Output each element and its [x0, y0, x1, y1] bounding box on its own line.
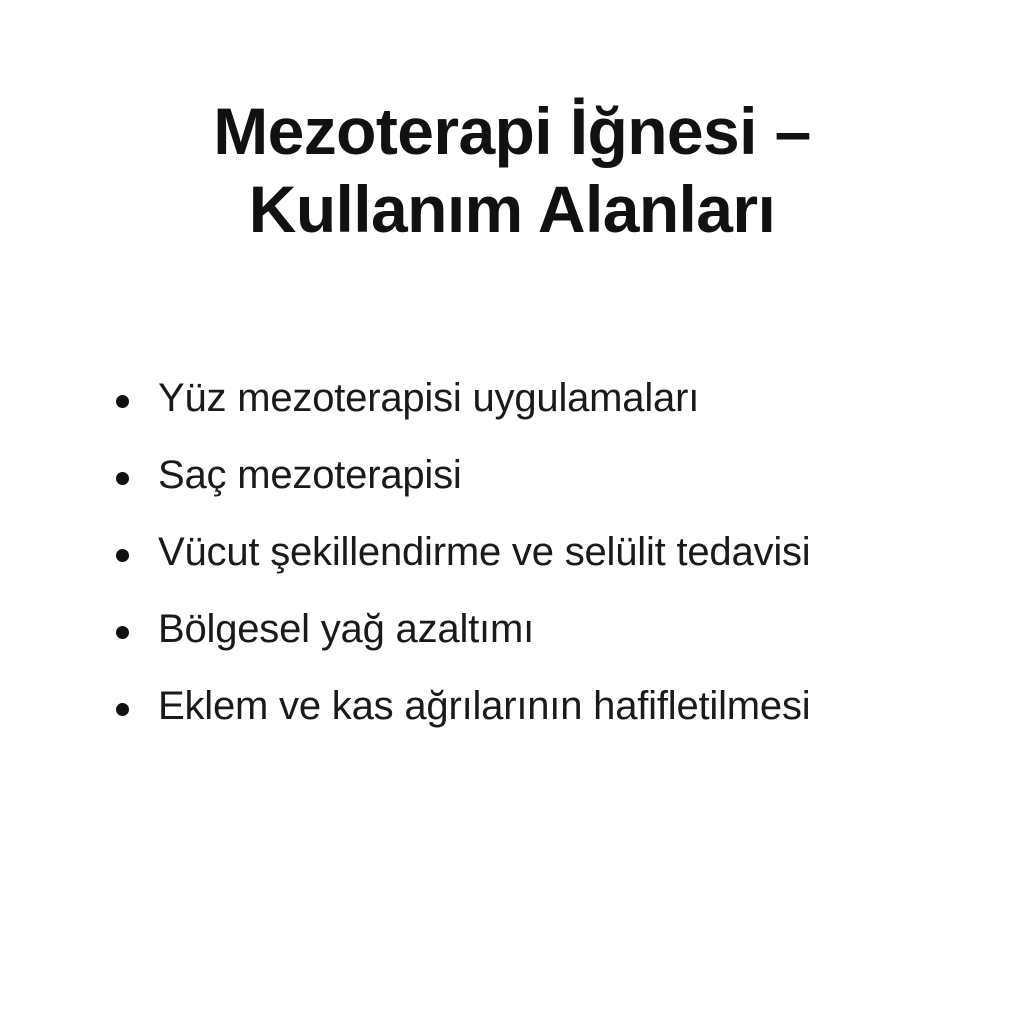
list-item: Saç mezoterapisi: [112, 451, 992, 528]
list-item: Yüz mezoterapisi uygulamaları: [112, 374, 992, 451]
list-item-label: Bölgesel yağ azaltımı: [158, 605, 534, 653]
list-item: Eklem ve kas ağrılarının hafifletilmesi: [112, 682, 992, 759]
page-title-line-2: Kullanım Alanları: [0, 170, 1024, 248]
page-title-line-1: Mezoterapi İğnesi –: [0, 92, 1024, 170]
list-item-label: Yüz mezoterapisi uygulamaları: [158, 374, 699, 422]
slide-canvas: Mezoterapi İğnesi – Kullanım Alanları Yü…: [0, 0, 1024, 1024]
bullet-dot-icon: [116, 703, 129, 716]
usage-areas-list: Yüz mezoterapisi uygulamaları Saç mezote…: [112, 374, 992, 759]
list-item: Vücut şekillendirme ve selülit tedavisi: [112, 528, 992, 605]
bullet-dot-icon: [116, 472, 129, 485]
bullet-dot-icon: [116, 626, 129, 639]
list-item-label: Saç mezoterapisi: [158, 451, 462, 499]
list-item: Bölgesel yağ azaltımı: [112, 605, 992, 682]
page-title: Mezoterapi İğnesi – Kullanım Alanları: [0, 92, 1024, 248]
bullet-dot-icon: [116, 395, 129, 408]
list-item-label: Vücut şekillendirme ve selülit tedavisi: [158, 528, 811, 576]
list-item-label: Eklem ve kas ağrılarının hafifletilmesi: [158, 682, 810, 730]
bullet-dot-icon: [116, 549, 129, 562]
